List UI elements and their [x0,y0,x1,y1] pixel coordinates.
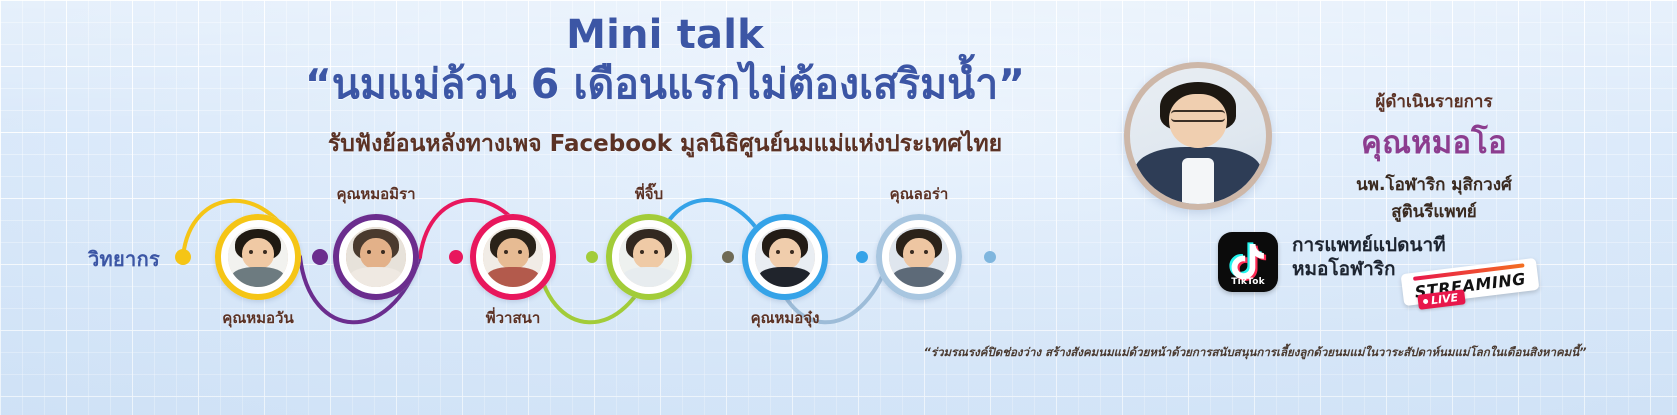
host-specialty: สูตินรีแพทย์ [1284,198,1584,225]
host-fullname: นพ.โอฬาริก มุสิกวงศ์ [1284,171,1584,198]
speaker-avatar-ring[interactable] [333,214,419,300]
host-photo [1124,62,1272,210]
speaker-name: คุณลอร่า [890,182,949,206]
promo-banner: Mini talk “นมแม่ล้วน 6 เดือนแรกไม่ต้องเส… [0,0,1677,415]
tiktok-wordmark: TikTok [1218,277,1278,287]
live-badge-label: LIVE [1430,291,1459,307]
host-nickname: คุณหมอโอ [1284,117,1584,167]
avatar [228,227,288,287]
host-role-label: ผู้ดำเนินรายการ [1284,88,1584,115]
tiktok-icon[interactable]: TikTok [1218,232,1278,292]
speaker-node[interactable]: คุณหมอวัน [215,214,301,300]
speaker-avatar-ring[interactable] [470,214,556,300]
speaker-name: พี่จิ๊บ [635,182,663,206]
campaign-note: “ร่วมรณรงค์ปิดช่องว่าง สร้างสังคมนมแม่ด้… [840,344,1670,362]
speaker-name: พี่วาสนา [486,306,541,330]
speaker-name: คุณหมอมิรา [336,182,415,206]
headline-block: Mini talk “นมแม่ล้วน 6 เดือนแรกไม่ต้องเส… [250,14,1080,162]
speakers-section: วิทยากร คุณหมอวัน [0,175,1060,350]
tiktok-channel-line1: การแพทย์แปดนาที [1292,234,1446,258]
avatar [483,227,543,287]
speaker-avatar-ring[interactable] [742,214,828,300]
avatar [889,227,949,287]
speaker-avatar-ring[interactable] [215,214,301,300]
speaker-avatar-ring[interactable] [876,214,962,300]
speaker-name: คุณหมอจุ๋ง [751,306,820,330]
avatar [619,227,679,287]
headline-topic: “นมแม่ล้วน 6 เดือนแรกไม่ต้องเสริมน้ำ” [250,59,1080,110]
speaker-node[interactable]: คุณหมอมิรา [333,214,419,300]
speaker-node[interactable]: พี่จิ๊บ [606,214,692,300]
host-info: ผู้ดำเนินรายการ คุณหมอโอ นพ.โอฬาริก มุสิ… [1284,88,1584,225]
speaker-name: คุณหมอวัน [222,306,293,330]
speaker-avatar-ring[interactable] [606,214,692,300]
speaker-node[interactable]: คุณหมอจุ๋ง [742,214,828,300]
speaker-node[interactable]: พี่วาสนา [470,214,556,300]
speaker-node[interactable]: คุณลอร่า [876,214,962,300]
headline-primary: Mini talk [250,14,1080,57]
avatar [755,227,815,287]
avatar [346,227,406,287]
headline-subtitle: รับฟังย้อนหลังทางเพจ Facebook มูลนิธิศูน… [250,126,1080,162]
live-dot-icon [1423,299,1429,305]
